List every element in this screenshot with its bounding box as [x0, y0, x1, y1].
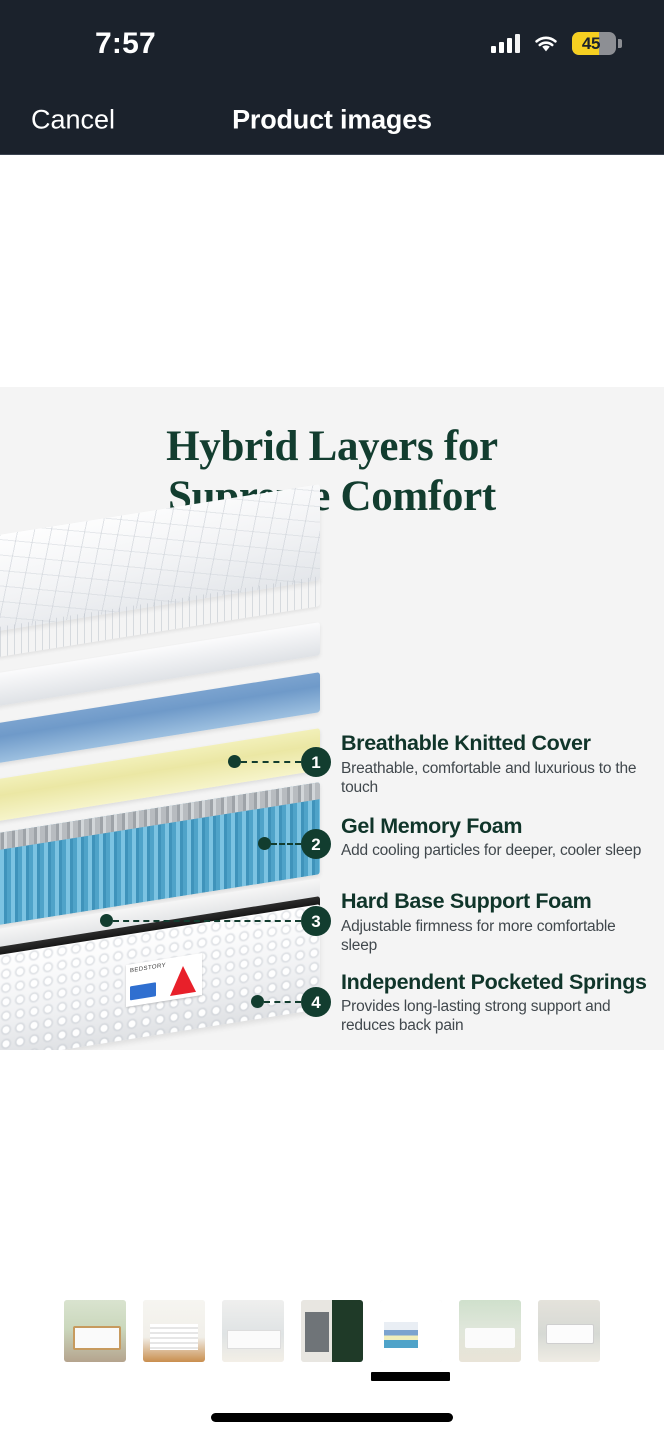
image-viewer[interactable]: Hybrid Layers for Supreme Comfort BEDSTO…: [0, 156, 664, 1276]
feature-title-3: Hard Base Support Foam: [341, 889, 591, 914]
battery-percent-label: 45: [572, 34, 616, 54]
callout-number-4: 4: [301, 987, 331, 1017]
callout-number-3: 3: [301, 906, 331, 936]
status-bar: 7:57 45: [0, 0, 664, 85]
status-bar-indicators: 45: [491, 32, 622, 55]
nav-bar: Cancel Product images: [0, 85, 664, 155]
thumbnail-item-5[interactable]: [380, 1300, 442, 1362]
callout-number-1: 1: [301, 747, 331, 777]
callout-dash-1: [241, 761, 301, 763]
thumbnail-item-2[interactable]: [143, 1300, 205, 1362]
callout-dot-1: [228, 755, 241, 768]
feature-description-3: Adjustable firmness for more comfortable…: [341, 917, 651, 955]
feature-callouts: 1 Breathable Knitted Cover Breathable, c…: [0, 387, 664, 1050]
thumbnail-item-4[interactable]: [301, 1300, 363, 1362]
status-bar-time: 7:57: [95, 27, 156, 61]
battery-icon: 45: [572, 32, 622, 55]
thumbnail-item-6[interactable]: [459, 1300, 521, 1362]
feature-title-2: Gel Memory Foam: [341, 814, 522, 839]
wifi-icon: [533, 34, 559, 53]
home-indicator[interactable]: [211, 1413, 453, 1422]
callout-dash-3: [113, 920, 301, 922]
page-title: Product images: [0, 104, 664, 135]
feature-description-4: Provides long-lasting strong support and…: [341, 997, 651, 1035]
cellular-bars-icon: [491, 34, 520, 53]
callout-dot-4: [251, 995, 264, 1008]
callout-dot-3: [100, 914, 113, 927]
callout-dash-2: [271, 843, 301, 845]
callout-dash-4: [264, 1001, 301, 1003]
callout-dot-2: [258, 837, 271, 850]
thumbnail-item-1[interactable]: [64, 1300, 126, 1362]
thumbnail-strip[interactable]: [0, 1300, 664, 1380]
product-infographic[interactable]: Hybrid Layers for Supreme Comfort BEDSTO…: [0, 387, 664, 1050]
callout-number-2: 2: [301, 829, 331, 859]
thumbnail-active-indicator: [371, 1372, 450, 1381]
feature-title-4: Independent Pocketed Springs: [341, 970, 647, 995]
feature-description-1: Breathable, comfortable and luxurious to…: [341, 759, 651, 797]
thumbnail-item-3[interactable]: [222, 1300, 284, 1362]
thumbnail-item-7[interactable]: [538, 1300, 600, 1362]
feature-description-2: Add cooling particles for deeper, cooler…: [341, 841, 651, 860]
feature-title-1: Breathable Knitted Cover: [341, 731, 591, 756]
